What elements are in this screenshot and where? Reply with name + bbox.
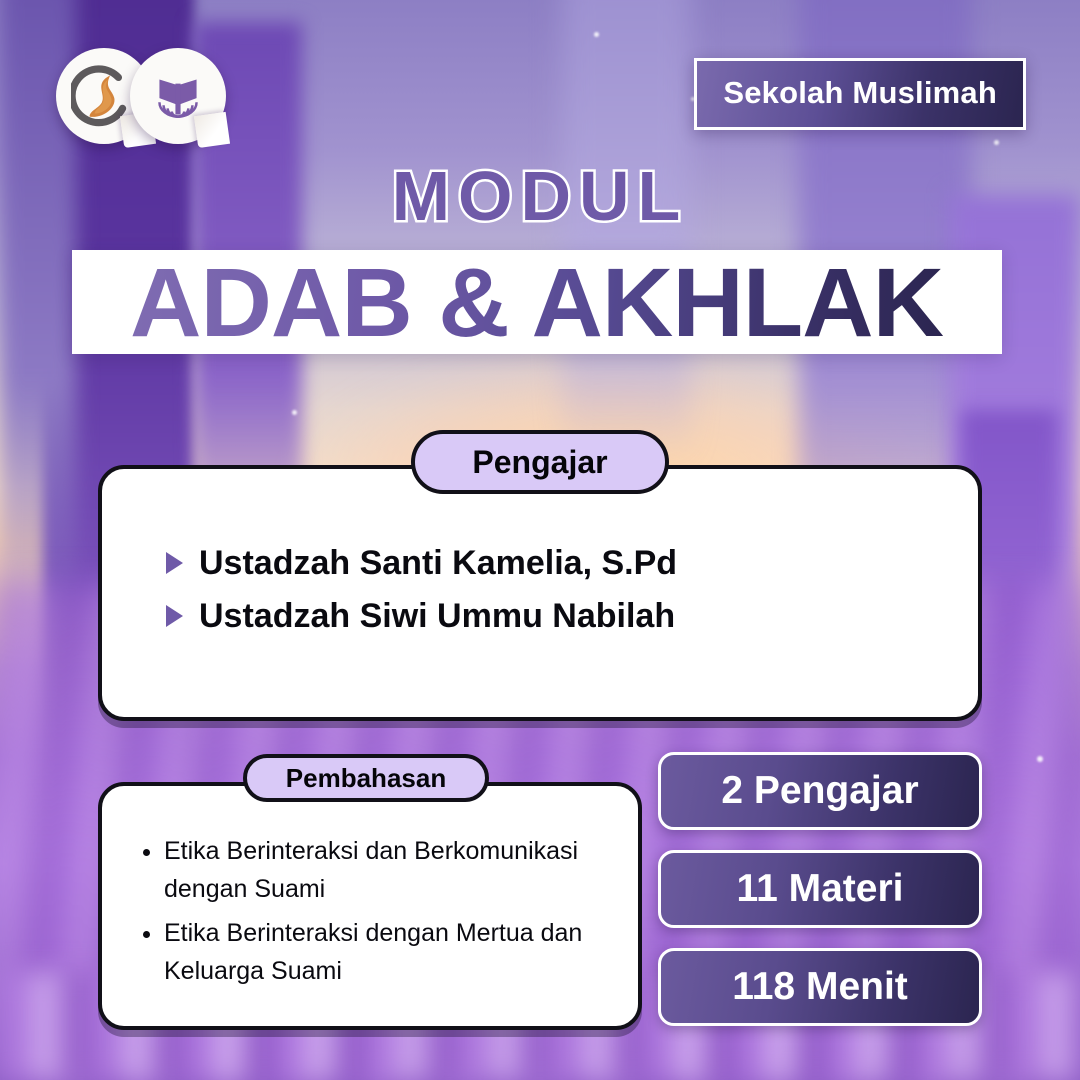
title-band: ADAB & AKHLAK	[72, 250, 1002, 354]
teacher-name: Ustadzah Siwi Ummu Nabilah	[199, 590, 675, 643]
book-academy-emblem-icon	[130, 48, 226, 144]
stat-badge-materi: 11 Materi	[658, 850, 982, 928]
teacher-list: Ustadzah Santi Kamelia, S.Pd Ustadzah Si…	[166, 537, 978, 642]
poster-root: Sekolah Muslimah MODUL ADAB & AKHLAK Pen…	[0, 0, 1080, 1080]
list-item: Etika Berinteraksi dengan Mertua dan Kel…	[164, 914, 612, 990]
teacher-name: Ustadzah Santi Kamelia, S.Pd	[199, 537, 677, 590]
list-item: Ustadzah Santi Kamelia, S.Pd	[166, 537, 978, 590]
pengajar-card: Ustadzah Santi Kamelia, S.Pd Ustadzah Si…	[98, 465, 982, 721]
page-title: ADAB & AKHLAK	[130, 254, 943, 351]
school-badge: Sekolah Muslimah	[694, 58, 1026, 130]
pembahasan-pill-label: Pembahasan	[243, 754, 489, 802]
sparkle-dot	[1037, 756, 1043, 762]
stat-badge-menit: 118 Menit	[658, 948, 982, 1026]
topic-list: Etika Berinteraksi dan Berkomunikasi den…	[136, 832, 612, 990]
modul-kicker: MODUL	[0, 156, 1080, 236]
triangle-right-icon	[166, 552, 183, 574]
list-item: Etika Berinteraksi dan Berkomunikasi den…	[164, 832, 612, 908]
triangle-right-icon	[166, 605, 183, 627]
pengajar-pill-label: Pengajar	[411, 430, 669, 494]
stat-badge-pengajar: 2 Pengajar	[658, 752, 982, 830]
logo-group	[56, 48, 276, 158]
list-item: Ustadzah Siwi Ummu Nabilah	[166, 590, 978, 643]
pembahasan-card: Etika Berinteraksi dan Berkomunikasi den…	[98, 782, 642, 1030]
